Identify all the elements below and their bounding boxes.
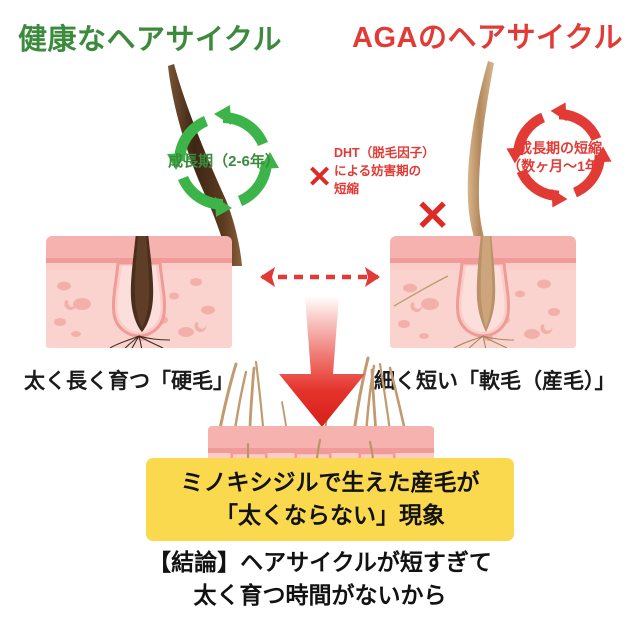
highlight-line2: 「太くならない」現象 bbox=[152, 499, 508, 532]
dht-note-line1: DHT（脱毛因子） bbox=[334, 146, 435, 160]
x-mark-icon-left: ✕ bbox=[307, 163, 332, 193]
infographic-canvas: 健康なヘアサイクル AGAのヘアサイクル bbox=[0, 0, 640, 629]
dht-note-line3: 短縮 bbox=[334, 182, 359, 196]
highlight-line1: ミノキシジルで生えた産毛が bbox=[152, 466, 508, 499]
dashed-double-arrow-icon bbox=[244, 262, 396, 292]
hair-root-light bbox=[462, 236, 510, 342]
conclusion-line2: 太く育つ時間がないから bbox=[0, 579, 640, 612]
highlight-callout-box: ミノキシジルで生えた産毛が 「太くならない」現象 bbox=[146, 458, 514, 541]
conclusion-line1: 【結論】ヘアサイクルが短すぎて bbox=[0, 546, 640, 579]
cycle-label-aga: 成長期の短縮 （数ヶ月〜1年） bbox=[494, 140, 626, 175]
dht-note: DHT（脱毛因子） による妨害期の 短縮 bbox=[334, 144, 439, 198]
conclusion-text: 【結論】ヘアサイクルが短すぎて 太く育つ時間がないから bbox=[0, 546, 640, 611]
page-title-healthy-cycle: 健康なヘアサイクル bbox=[18, 16, 282, 58]
cycle-label-aga-line1: 成長期の短縮 bbox=[518, 140, 602, 156]
cycle-label-healthy: 成長期（2-6年） bbox=[160, 153, 288, 172]
dht-note-line2: による妨害期の bbox=[334, 164, 421, 178]
page-title-aga-cycle: AGAのヘアサイクル bbox=[352, 14, 623, 56]
x-mark-icon-right: ✕ bbox=[415, 195, 450, 237]
hair-root-dark bbox=[116, 236, 168, 342]
red-gradient-down-arrow-icon bbox=[275, 296, 369, 428]
cycle-label-aga-line2: （数ヶ月〜1年） bbox=[507, 158, 613, 174]
